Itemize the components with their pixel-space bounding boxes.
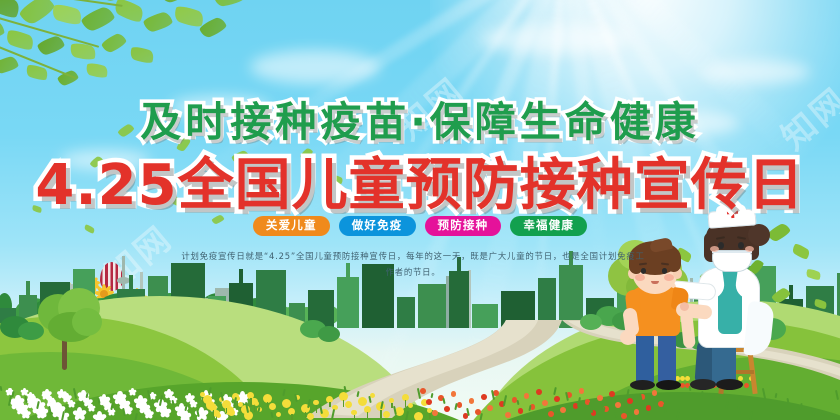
leaf <box>142 10 173 33</box>
yellow-flower <box>383 411 390 418</box>
boy-leg-right <box>658 330 676 384</box>
twig <box>0 10 99 48</box>
white-flower <box>57 389 67 399</box>
grass-tuft <box>430 393 433 398</box>
stem <box>250 398 251 407</box>
twig <box>0 0 123 7</box>
boy-shoe-left <box>630 380 655 390</box>
leaf <box>80 5 116 34</box>
tag-pill-care-for-children[interactable]: 关爱儿童 <box>253 216 330 236</box>
stem <box>354 415 355 420</box>
red-flower <box>542 400 548 406</box>
red-flower <box>560 407 566 413</box>
stem <box>329 402 330 407</box>
building <box>472 304 498 328</box>
stem <box>305 412 306 418</box>
leaf <box>213 0 245 7</box>
stem <box>316 405 317 413</box>
cloud <box>480 24 630 54</box>
tag-pill-vaccination[interactable]: 预防接种 <box>425 216 502 236</box>
red-flower <box>536 389 542 395</box>
leaf <box>85 61 110 80</box>
injection-site <box>680 302 689 311</box>
red-flower <box>524 393 530 399</box>
red-flower <box>609 391 615 397</box>
bush <box>580 314 602 330</box>
bush <box>318 326 340 342</box>
red-flower <box>481 394 487 400</box>
red-flower <box>615 402 621 408</box>
description-paragraph: 计划免疫宣传日就是“4.25”全国儿童预防接种宣传日，每年的这一天，既是广大儿童… <box>178 249 648 280</box>
nurse-shoe-front <box>716 379 743 390</box>
grass-tuft <box>467 408 470 416</box>
stem <box>267 402 268 407</box>
red-flower <box>597 395 603 401</box>
white-flower <box>16 405 26 415</box>
petal <box>56 391 62 396</box>
stem <box>380 410 381 418</box>
red-flower <box>493 390 499 396</box>
yellow-flower <box>414 412 423 420</box>
stem <box>237 401 238 408</box>
boy-leg-left <box>636 330 654 384</box>
stem <box>405 400 406 407</box>
building <box>418 284 446 328</box>
stem <box>343 400 344 407</box>
white-flower <box>72 407 86 420</box>
building <box>538 278 556 328</box>
stem <box>291 414 292 420</box>
yellow-flower <box>358 397 367 406</box>
twig <box>0 36 76 79</box>
red-flower <box>426 399 432 405</box>
red-flower <box>457 402 463 408</box>
white-flower <box>179 410 191 420</box>
boy-shoe-right <box>656 380 681 390</box>
red-flower <box>432 410 438 416</box>
red-flower <box>487 405 493 411</box>
leaf <box>36 34 65 56</box>
yellow-flower <box>282 399 291 408</box>
building <box>397 297 415 328</box>
white-flower <box>93 411 107 420</box>
red-flower <box>634 409 640 415</box>
red-flower <box>420 388 426 394</box>
red-flower <box>627 398 633 404</box>
red-flower <box>621 413 627 419</box>
red-flower <box>554 396 560 402</box>
leaf <box>50 2 84 27</box>
red-flower <box>505 412 511 418</box>
stem <box>367 412 368 418</box>
tag-pill-happy-health[interactable]: 幸福健康 <box>510 216 587 236</box>
vaccination-day-banner: 知网 知网 知网 <box>0 0 840 420</box>
tag-pill-row: 关爱儿童 做好免疫 预防接种 幸福健康 <box>0 216 840 236</box>
tag-pill-good-immunity[interactable]: 做好免疫 <box>339 216 416 236</box>
stem <box>213 410 214 418</box>
nurse-coat-tail <box>743 301 775 357</box>
red-flower <box>579 388 585 394</box>
face-mask <box>712 250 752 272</box>
leaf <box>33 0 74 1</box>
leaf <box>158 0 194 5</box>
red-flower <box>469 398 475 404</box>
grass-tuft <box>516 400 519 405</box>
white-flower <box>36 409 46 419</box>
stem <box>429 413 430 419</box>
leaf <box>4 27 36 52</box>
red-flower <box>444 406 450 412</box>
red-flower <box>451 391 457 397</box>
headline-slogan: 及时接种疫苗·保障生命健康 <box>0 88 840 148</box>
red-flower <box>518 408 524 414</box>
leaf <box>198 15 228 39</box>
stem <box>226 408 227 413</box>
leaf <box>128 45 155 66</box>
leaf <box>0 20 5 41</box>
grass-tuft <box>442 398 445 404</box>
white-flower <box>144 409 154 419</box>
leaf <box>172 3 206 29</box>
building <box>501 291 535 328</box>
white-flower <box>159 406 171 418</box>
bush <box>18 322 44 340</box>
leaf <box>100 31 128 54</box>
page-title: 4.25全国儿童预防接种宣传日 <box>0 140 840 221</box>
leaf <box>0 55 19 74</box>
red-flower <box>548 411 554 417</box>
cloud <box>700 60 810 84</box>
